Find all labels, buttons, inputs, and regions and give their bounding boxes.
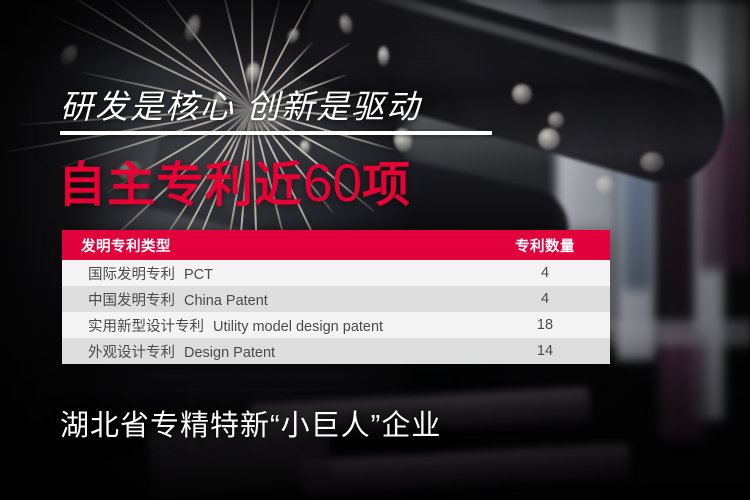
patent-table: 发明专利类型 专利数量 国际发明专利PCT 4 中国发明专利China Pate… <box>62 230 610 364</box>
cell-type-cn: 中国发明专利 <box>88 293 175 309</box>
cell-type-en: Design Patent <box>184 345 275 361</box>
table-row: 外观设计专利Design Patent 14 <box>62 338 610 364</box>
cell-patent-type: 实用新型设计专利Utility model design patent <box>62 315 480 336</box>
big-title-suffix: 项 <box>362 159 411 212</box>
poster-big-title: 自主专利近60项 <box>58 145 411 215</box>
promotional-poster: 研发是核心 创新是驱动 自主专利近60项 发明专利类型 专利数量 国际发明专利P… <box>0 0 750 500</box>
table-row: 中国发明专利China Patent 4 <box>62 286 610 312</box>
poster-headline: 研发是核心 创新是驱动 <box>60 80 421 128</box>
table-header-row: 发明专利类型 专利数量 <box>62 230 610 260</box>
poster-footer-text: 湖北省专精特新“小巨人”企业 <box>60 402 441 444</box>
big-title-number: 60 <box>303 154 362 213</box>
cell-patent-count: 14 <box>480 343 610 359</box>
cell-patent-count: 18 <box>480 317 610 333</box>
cell-type-cn: 国际发明专利 <box>88 267 175 283</box>
cell-patent-count: 4 <box>480 265 610 281</box>
big-title-prefix: 自主专利近 <box>58 159 303 212</box>
cell-type-cn: 实用新型设计专利 <box>88 319 204 335</box>
cell-patent-type: 外观设计专利Design Patent <box>62 341 480 362</box>
cell-type-en: China Patent <box>184 293 268 309</box>
column-header-count: 专利数量 <box>480 235 610 256</box>
cell-patent-type: 中国发明专利China Patent <box>62 289 480 310</box>
table-row: 国际发明专利PCT 4 <box>62 260 610 286</box>
poster-content: 研发是核心 创新是驱动 自主专利近60项 发明专利类型 专利数量 国际发明专利P… <box>0 0 750 500</box>
cell-type-en: PCT <box>184 267 213 283</box>
cell-patent-count: 4 <box>480 291 610 307</box>
column-header-type: 发明专利类型 <box>62 235 480 256</box>
cell-type-cn: 外观设计专利 <box>88 345 175 361</box>
headline-divider <box>60 131 492 135</box>
cell-patent-type: 国际发明专利PCT <box>62 263 480 284</box>
cell-type-en: Utility model design patent <box>213 319 383 335</box>
table-row: 实用新型设计专利Utility model design patent 18 <box>62 312 610 338</box>
